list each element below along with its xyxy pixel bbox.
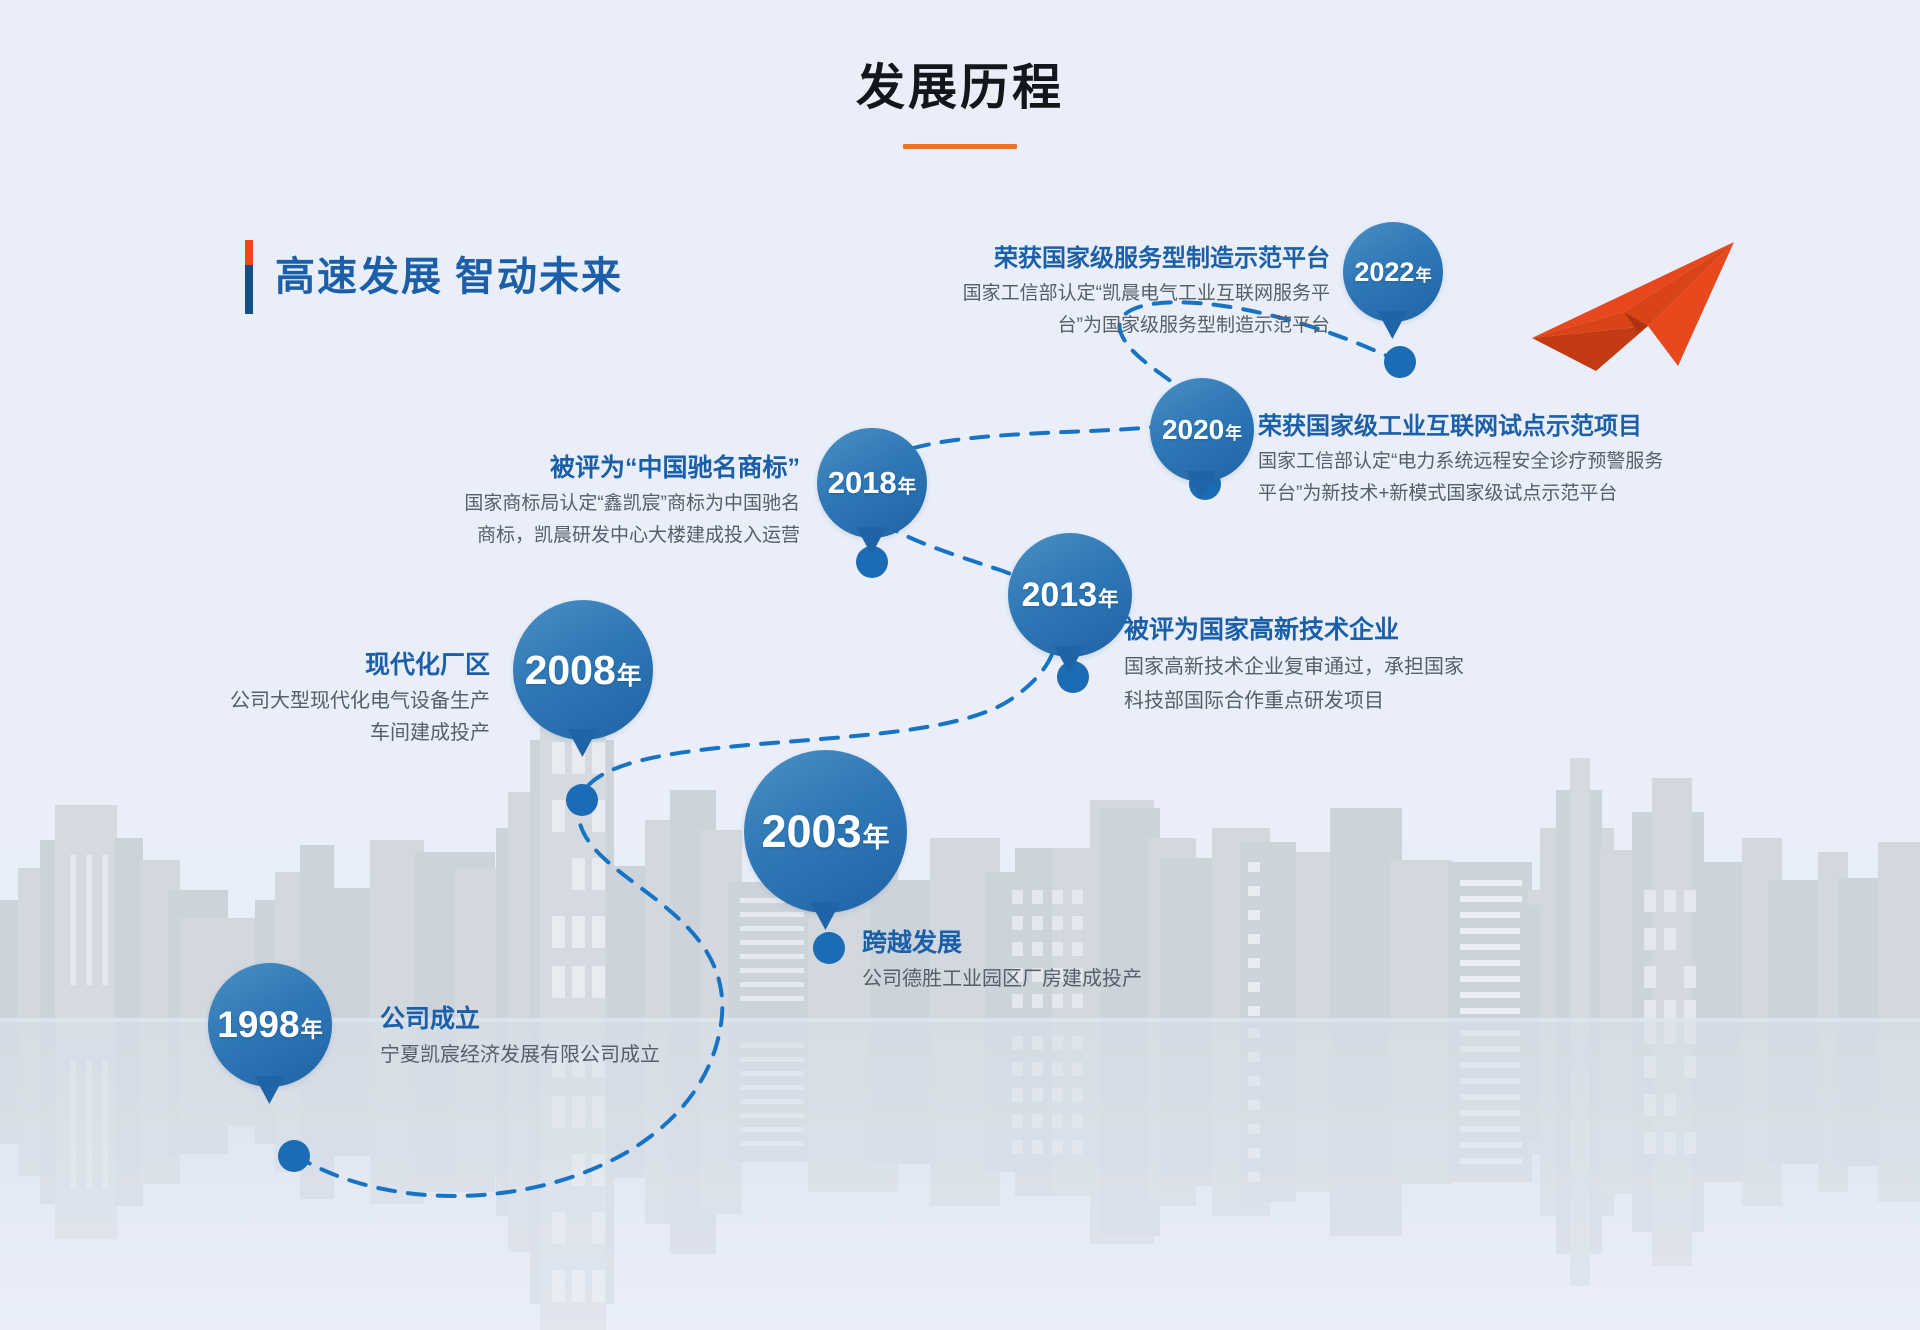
paper-plane-icon <box>1528 240 1738 375</box>
info-headline-1998: 公司成立 <box>380 1000 800 1038</box>
year-label-2018: 2018年 <box>828 465 917 501</box>
year-label-2020: 2020年 <box>1162 414 1242 446</box>
info-desc-2013-l1: 国家高新技术企业复审通过，承担国家 <box>1124 650 1544 684</box>
year-label-2022: 2022年 <box>1354 257 1431 288</box>
info-desc-2020-l1: 国家工信部认定“电力系统远程安全诊疗预警服务 <box>1258 446 1758 478</box>
marker-2020[interactable]: 2020年 <box>1150 378 1254 482</box>
page-title: 发展历程 <box>0 48 1920 119</box>
subtitle-accent-bar <box>245 240 253 314</box>
info-headline-2022: 荣获国家级服务型制造示范平台 <box>900 240 1330 278</box>
info-2013: 被评为国家高新技术企业 国家高新技术企业复审通过，承担国家 科技部国际合作重点研… <box>1124 610 1544 718</box>
marker-2013[interactable]: 2013年 <box>1008 533 1132 657</box>
info-desc-2008-l2: 车间建成投产 <box>150 717 490 749</box>
info-desc-2008-l1: 公司大型现代化电气设备生产 <box>150 685 490 717</box>
info-headline-2018: 被评为“中国驰名商标” <box>380 448 800 488</box>
marker-2018[interactable]: 2018年 <box>817 428 927 538</box>
year-balloon-2020[interactable]: 2020年 <box>1150 378 1254 482</box>
timeline-node-2008 <box>566 784 598 816</box>
year-label-2008: 2008年 <box>525 647 642 694</box>
infographic-canvas: 发展历程 高速发展 智动未来 1998年 <box>0 0 1920 1330</box>
info-headline-2008: 现代化厂区 <box>150 645 490 685</box>
info-2018: 被评为“中国驰名商标” 国家商标局认定“鑫凯宸”商标为中国驰名 商标，凯晨研发中… <box>380 448 800 552</box>
info-desc-2022-l1: 国家工信部认定“凯晨电气工业互联网服务平 <box>900 278 1330 310</box>
info-desc-2003-l1: 公司德胜工业园区厂房建成投产 <box>862 962 1292 996</box>
marker-2008[interactable]: 2008年 <box>513 600 653 740</box>
year-label-2003: 2003年 <box>761 806 889 858</box>
info-desc-2018-l1: 国家商标局认定“鑫凯宸”商标为中国驰名 <box>380 488 800 520</box>
marker-2022[interactable]: 2022年 <box>1343 222 1443 322</box>
timeline-node-2003 <box>813 932 845 964</box>
info-2020: 荣获国家级工业互联网试点示范项目 国家工信部认定“电力系统远程安全诊疗预警服务 … <box>1258 408 1758 510</box>
subtitle-block: 高速发展 智动未来 <box>245 240 623 314</box>
title-underline <box>903 144 1017 149</box>
year-balloon-2022[interactable]: 2022年 <box>1343 222 1443 322</box>
info-desc-2020-l2: 平台”为新技术+新模式国家级试点示范平台 <box>1258 478 1758 510</box>
year-label-2013: 2013年 <box>1021 576 1118 615</box>
subtitle-text: 高速发展 智动未来 <box>275 240 623 314</box>
info-headline-2013: 被评为国家高新技术企业 <box>1124 610 1544 650</box>
info-2008: 现代化厂区 公司大型现代化电气设备生产 车间建成投产 <box>150 645 490 749</box>
timeline-node-2022 <box>1384 346 1416 378</box>
info-headline-2020: 荣获国家级工业互联网试点示范项目 <box>1258 408 1758 446</box>
year-balloon-2013[interactable]: 2013年 <box>1008 533 1132 657</box>
accent-bar-top <box>245 240 253 265</box>
year-balloon-2003[interactable]: 2003年 <box>744 750 907 913</box>
info-desc-2013-l2: 科技部国际合作重点研发项目 <box>1124 684 1544 718</box>
info-headline-2003: 跨越发展 <box>862 924 1292 962</box>
year-balloon-1998[interactable]: 1998年 <box>208 963 332 1087</box>
info-1998: 公司成立 宁夏凯宸经济发展有限公司成立 <box>380 1000 800 1072</box>
year-label-1998: 1998年 <box>217 1004 323 1046</box>
marker-1998[interactable]: 1998年 <box>208 963 332 1087</box>
info-desc-2022-l2: 台”为国家级服务型制造示范平台 <box>900 310 1330 342</box>
year-balloon-2008[interactable]: 2008年 <box>513 600 653 740</box>
info-2003: 跨越发展 公司德胜工业园区厂房建成投产 <box>862 924 1292 996</box>
accent-bar-bottom <box>245 265 253 314</box>
year-balloon-2018[interactable]: 2018年 <box>817 428 927 538</box>
info-desc-1998-l1: 宁夏凯宸经济发展有限公司成立 <box>380 1038 800 1072</box>
info-2022: 荣获国家级服务型制造示范平台 国家工信部认定“凯晨电气工业互联网服务平 台”为国… <box>900 240 1330 342</box>
timeline-node-1998 <box>278 1140 310 1172</box>
marker-2003[interactable]: 2003年 <box>744 750 907 913</box>
info-desc-2018-l2: 商标，凯晨研发中心大楼建成投入运营 <box>380 520 800 552</box>
